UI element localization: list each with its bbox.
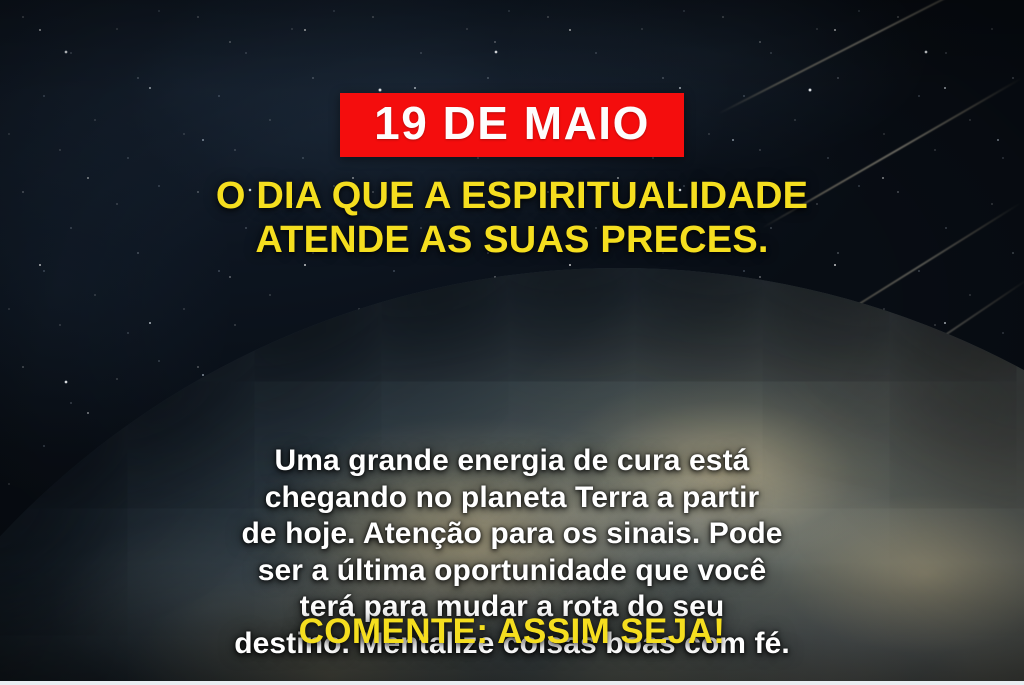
body-line-1: Uma grande energia de cura está xyxy=(0,443,1024,480)
body-line-2: chegando no planeta Terra a partir xyxy=(0,480,1024,517)
body-line-4: ser a última oportunidade que você xyxy=(0,553,1024,590)
call-to-action-text: COMENTE: ASSIM SEJA! xyxy=(0,612,1024,652)
headline-line-1: O DIA QUE A ESPIRITUALIDADE xyxy=(216,174,808,218)
poster-content: 19 DE MAIO O DIA QUE A ESPIRITUALIDADE A… xyxy=(0,0,1024,685)
poster-canvas: 19 DE MAIO O DIA QUE A ESPIRITUALIDADE A… xyxy=(0,0,1024,685)
headline-line-2: ATENDE AS SUAS PRECES. xyxy=(216,218,808,262)
date-banner: 19 DE MAIO xyxy=(340,93,684,157)
bottom-edge-strip xyxy=(0,681,1024,685)
date-banner-text: 19 DE MAIO xyxy=(374,100,650,146)
headline: O DIA QUE A ESPIRITUALIDADE ATENDE AS SU… xyxy=(216,174,808,262)
body-line-3: de hoje. Atenção para os sinais. Pode xyxy=(0,516,1024,553)
